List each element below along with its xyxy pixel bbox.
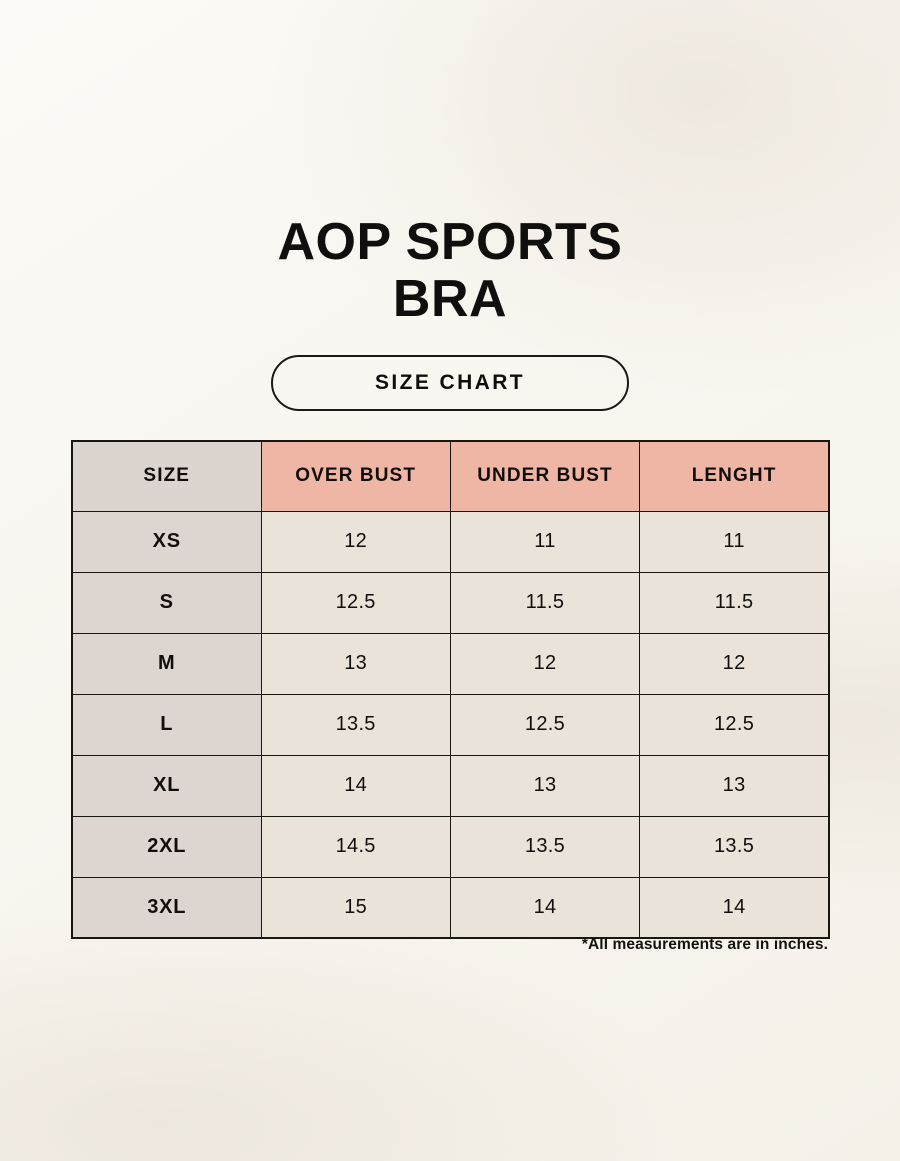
measurements-footnote: *All measurements are in inches. [71, 936, 828, 954]
cell-size: S [72, 572, 261, 633]
table-row: S 12.5 11.5 11.5 [72, 572, 829, 633]
column-header-under-bust: UNDER BUST [450, 441, 639, 511]
cell-over-bust: 15 [261, 877, 450, 938]
cell-over-bust: 12.5 [261, 572, 450, 633]
title-line-2: BRA [0, 271, 900, 328]
table-row: M 13 12 12 [72, 633, 829, 694]
cell-under-bust: 11.5 [450, 572, 639, 633]
size-chart-badge-wrap: SIZE CHART [0, 355, 900, 411]
table-row: XL 14 13 13 [72, 755, 829, 816]
page-title: AOP SPORTS BRA [0, 214, 900, 328]
cell-lenght: 12 [640, 633, 829, 694]
table-header-row: SIZE OVER BUST UNDER BUST LENGHT [72, 441, 829, 511]
cell-lenght: 12.5 [640, 694, 829, 755]
cell-lenght: 11 [640, 511, 829, 572]
cell-size: XS [72, 511, 261, 572]
cell-under-bust: 11 [450, 511, 639, 572]
cell-size: L [72, 694, 261, 755]
title-line-1: AOP SPORTS [0, 214, 900, 271]
size-chart-badge: SIZE CHART [271, 355, 629, 411]
cell-over-bust: 12 [261, 511, 450, 572]
table-row: L 13.5 12.5 12.5 [72, 694, 829, 755]
cell-over-bust: 13.5 [261, 694, 450, 755]
size-table-head: SIZE OVER BUST UNDER BUST LENGHT [72, 441, 829, 511]
column-header-size: SIZE [72, 441, 261, 511]
table-row: 2XL 14.5 13.5 13.5 [72, 816, 829, 877]
cell-under-bust: 13.5 [450, 816, 639, 877]
cell-under-bust: 13 [450, 755, 639, 816]
cell-size: 3XL [72, 877, 261, 938]
cell-lenght: 14 [640, 877, 829, 938]
column-header-over-bust: OVER BUST [261, 441, 450, 511]
cell-size: 2XL [72, 816, 261, 877]
cell-over-bust: 14.5 [261, 816, 450, 877]
cell-size: M [72, 633, 261, 694]
size-table-body: XS 12 11 11 S 12.5 11.5 11.5 M 13 12 12 [72, 511, 829, 938]
table-row: 3XL 15 14 14 [72, 877, 829, 938]
cell-over-bust: 13 [261, 633, 450, 694]
size-table: SIZE OVER BUST UNDER BUST LENGHT XS 12 1… [71, 440, 830, 939]
cell-under-bust: 14 [450, 877, 639, 938]
table-row: XS 12 11 11 [72, 511, 829, 572]
cell-under-bust: 12.5 [450, 694, 639, 755]
cell-under-bust: 12 [450, 633, 639, 694]
size-chart-page: AOP SPORTS BRA SIZE CHART SIZE OVER BUST… [0, 0, 900, 1161]
cell-lenght: 13.5 [640, 816, 829, 877]
cell-lenght: 13 [640, 755, 829, 816]
cell-lenght: 11.5 [640, 572, 829, 633]
cell-size: XL [72, 755, 261, 816]
cell-over-bust: 14 [261, 755, 450, 816]
column-header-lenght: LENGHT [640, 441, 829, 511]
size-table-wrap: SIZE OVER BUST UNDER BUST LENGHT XS 12 1… [71, 440, 828, 939]
